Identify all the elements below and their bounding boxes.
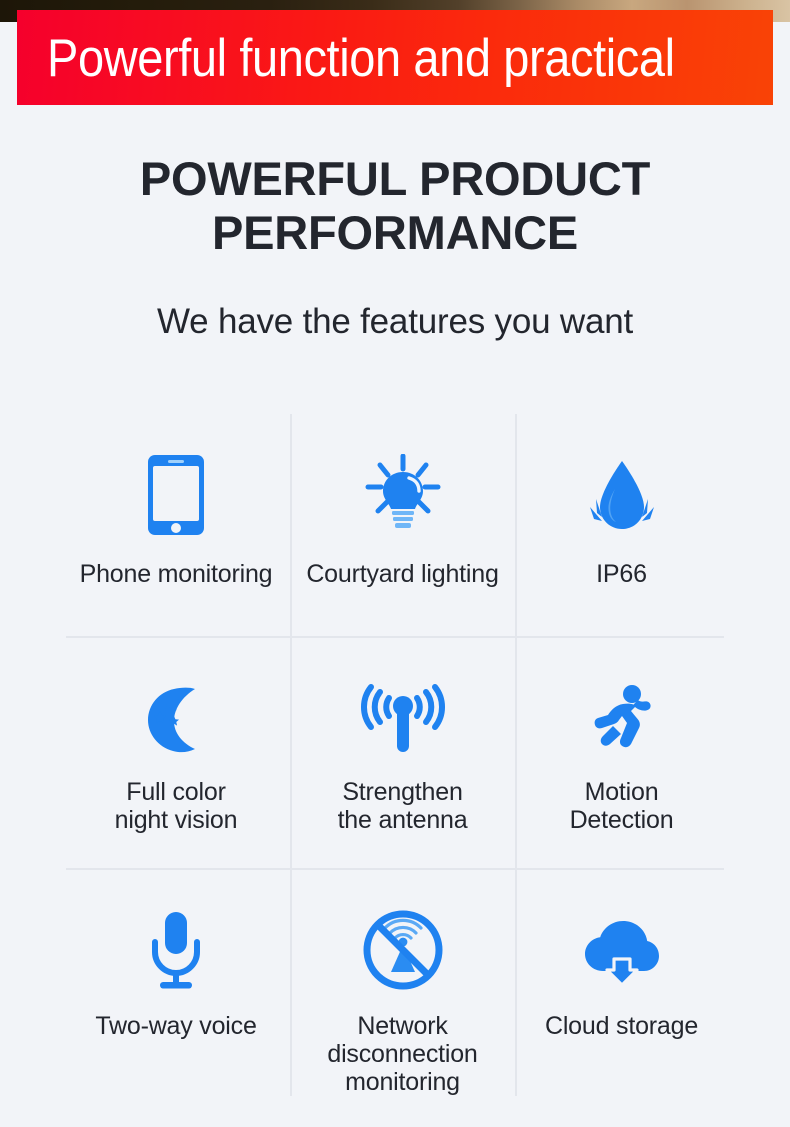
- smartphone-icon: [147, 452, 205, 538]
- headings-block: POWERFUL PRODUCT PERFORMANCE We have the…: [0, 152, 790, 342]
- feature-cell-courtyard-lighting: Courtyard lighting: [290, 414, 515, 638]
- microphone-icon: [145, 908, 207, 992]
- feature-cell-motion-detection: Motion Detection: [515, 638, 728, 870]
- crescent-moon-stars-icon: [138, 676, 214, 762]
- banner-title: Powerful function and practical: [17, 31, 675, 84]
- feature-cell-strengthen-antenna: Strengthen the antenna: [290, 638, 515, 870]
- feature-label: Cloud storage: [545, 1012, 698, 1040]
- feature-label: Motion Detection: [570, 778, 674, 834]
- feature-cell-ip66: IP66: [515, 414, 728, 638]
- feature-cell-night-vision: Full color night vision: [62, 638, 290, 870]
- feature-label: Network disconnection monitoring: [327, 1012, 477, 1096]
- feature-label: IP66: [596, 560, 647, 588]
- no-signal-tower-icon: [362, 908, 444, 992]
- page-title-line1: POWERFUL PRODUCT: [140, 152, 650, 205]
- page-subtitle: We have the features you want: [0, 260, 790, 342]
- feature-label: Full color night vision: [115, 778, 238, 834]
- feature-cell-cloud-storage: Cloud storage: [515, 870, 728, 1096]
- feature-grid: Phone monitoring: [62, 414, 728, 1096]
- page-title-line2: PERFORMANCE: [212, 206, 578, 259]
- lightbulb-icon: [360, 452, 446, 538]
- feature-label: Phone monitoring: [80, 560, 273, 588]
- cloud-download-icon: [581, 908, 663, 992]
- feature-cell-phone-monitoring: Phone monitoring: [62, 414, 290, 638]
- antenna-signal-icon: [353, 676, 453, 762]
- running-person-icon: [583, 676, 661, 762]
- banner: Powerful function and practical: [17, 10, 773, 105]
- feature-label: Courtyard lighting: [306, 560, 498, 588]
- feature-label: Strengthen the antenna: [338, 778, 468, 834]
- feature-label: Two-way voice: [95, 1012, 256, 1040]
- feature-cell-two-way-voice: Two-way voice: [62, 870, 290, 1096]
- product-feature-page: Powerful function and practical POWERFUL…: [0, 0, 790, 1127]
- feature-cell-network-disconnection: Network disconnection monitoring: [290, 870, 515, 1096]
- page-title: POWERFUL PRODUCT PERFORMANCE: [0, 152, 790, 260]
- water-drop-icon: [582, 452, 662, 538]
